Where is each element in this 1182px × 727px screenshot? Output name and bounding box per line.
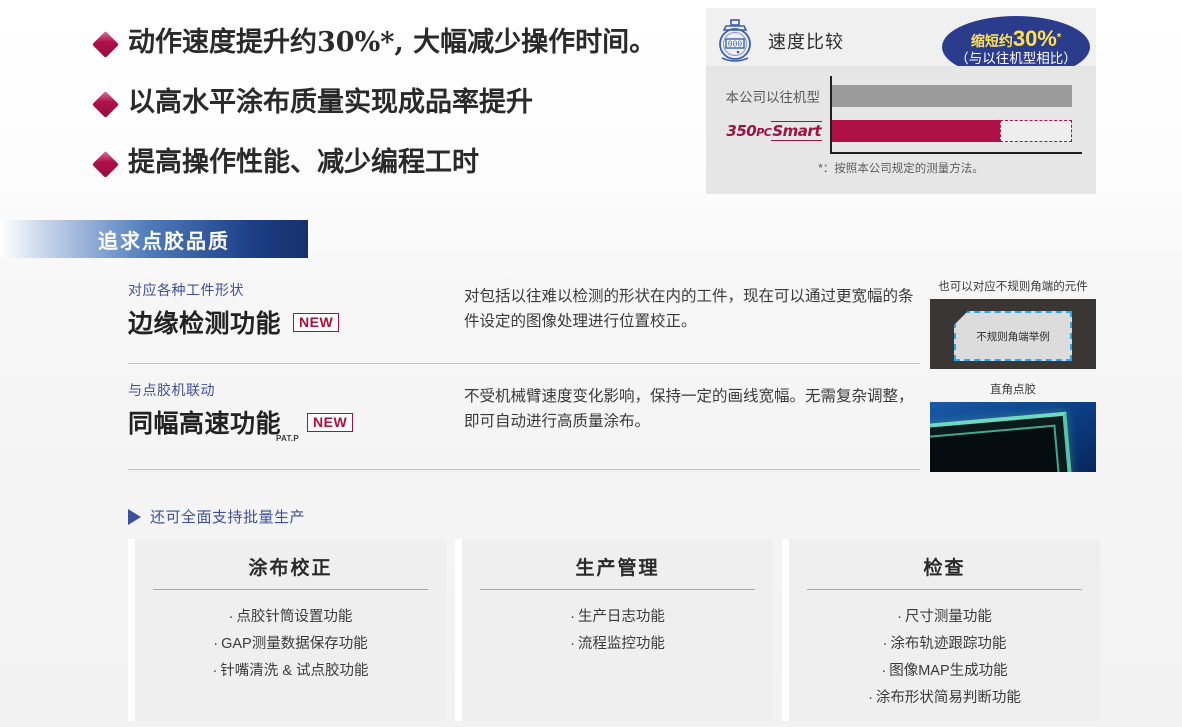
speed-comparison-panel: 000 速度比较 缩短约30%* （与以往机型相比） 本公司以往机型 xyxy=(706,8,1096,194)
chart-bar-track xyxy=(832,120,1072,142)
irregular-corner-shape: 不规则角端举例 xyxy=(954,311,1072,361)
chart-bar-row: 本公司以往机型 xyxy=(720,85,1082,107)
patent-pending-label: PAT.P xyxy=(276,434,299,443)
diamond-bullet-icon xyxy=(92,91,119,118)
chart-plot-area: 本公司以往机型 350PCSmart xyxy=(720,76,1082,154)
bullet-dot-icon: · xyxy=(229,609,234,625)
diamond-bullet-icon xyxy=(92,151,119,178)
bullet-dot-icon: · xyxy=(868,690,873,706)
product-logo-350pc-smart: 350PCSmart xyxy=(720,124,826,139)
card-item-label: 针嘴清洗 & 试点胶功能 xyxy=(220,663,368,679)
card-title: 涂布校正 xyxy=(153,553,428,590)
chart-bar-new-model xyxy=(832,120,1000,142)
thumbnail-image-right-angle-dispensing xyxy=(930,402,1096,472)
batch-production-heading: 还可全面支持批量生产 xyxy=(128,506,1182,527)
card-item: ·流程监控功能 xyxy=(480,631,755,658)
card-item-label: 生产日志功能 xyxy=(578,609,665,625)
stopwatch-icon: 000 xyxy=(712,18,758,64)
bullet-dot-icon: · xyxy=(881,663,886,679)
new-badge: NEW xyxy=(307,413,353,432)
bullet-text: 动作速度提升约30%*, 大幅减少操作时间。 xyxy=(128,26,656,60)
features-section: 对应各种工件形状 边缘检测功能 NEW 对包括以往难以检测的形状在内的工件，现在… xyxy=(0,278,1182,498)
batch-production-label: 还可全面支持批量生产 xyxy=(150,506,305,527)
card-inspection: 检查 ·尺寸测量功能 ·涂布轨迹跟踪功能 ·图像MAP生成功能 ·涂布形状简易判… xyxy=(782,539,1100,721)
chart-bar-reduction-ghost xyxy=(1000,120,1072,142)
feature-kicker: 对应各种工件形状 xyxy=(128,280,464,300)
feature-title: 边缘检测功能 xyxy=(128,304,281,340)
chart-x-axis xyxy=(830,152,1082,154)
card-item-list: ·尺寸测量功能 ·涂布轨迹跟踪功能 ·图像MAP生成功能 ·涂布形状简易判断功能 xyxy=(807,590,1082,712)
bullet-dot-icon: · xyxy=(212,663,217,679)
card-item: ·点胶针筒设置功能 xyxy=(153,604,428,631)
speed-panel-title: 速度比较 xyxy=(768,28,844,54)
card-item: ·图像MAP生成功能 xyxy=(807,658,1082,685)
card-production-management: 生产管理 ·生产日志功能 ·流程监控功能 xyxy=(455,539,773,721)
card-item-label: 点胶针筒设置功能 xyxy=(236,609,352,625)
bullet-item: 以高水平涂布质量实现成品率提升 xyxy=(96,86,696,124)
card-title: 生产管理 xyxy=(480,553,755,590)
bullet-item: 动作速度提升约30%*, 大幅减少操作时间。 xyxy=(96,26,696,64)
chart-footnote: *：按照本公司规定的测量方法。 xyxy=(706,160,1096,176)
reduction-badge-prefix: 缩短约 xyxy=(971,33,1013,49)
card-item: ·尺寸测量功能 xyxy=(807,604,1082,631)
bullet-dot-icon: · xyxy=(213,636,218,652)
thumbnail-block-irregular-corner: 也可以对应不规则角端的元件 不规则角端举例 xyxy=(930,278,1096,369)
card-item: ·涂布形状简易判断功能 xyxy=(807,685,1082,712)
feature-description: 对包括以往难以检测的形状在内的工件，现在可以通过更宽幅的条件设定的图像处理进行位… xyxy=(464,278,920,334)
feature-heading-block: 与点胶机联动 同幅高速功能 NEW PAT.P xyxy=(128,378,464,440)
reduction-badge-line1: 缩短约30%* xyxy=(971,27,1061,50)
thumbnail-image-irregular-corner: 不规则角端举例 xyxy=(930,299,1096,369)
chart-bar-label: 本公司以往机型 xyxy=(720,86,826,106)
reduction-badge-line2: （与以往机型相比） xyxy=(955,52,1077,66)
feature-title-line: 同幅高速功能 NEW PAT.P xyxy=(128,404,464,440)
bullet-text: 以高水平涂布质量实现成品率提升 xyxy=(128,86,533,120)
card-item-label: 图像MAP生成功能 xyxy=(889,663,1007,679)
card-item: ·针嘴清洗 & 试点胶功能 xyxy=(153,658,428,685)
bullet-dot-icon: · xyxy=(570,609,575,625)
feature-row-constant-width-high-speed: 与点胶机联动 同幅高速功能 NEW PAT.P 不受机械臂速度变化影响，保持一定… xyxy=(128,378,920,470)
feature-thumbnails: 也可以对应不规则角端的元件 不规则角端举例 直角点胶 xyxy=(930,278,1096,484)
section-band: 追求点胶品质 xyxy=(0,220,308,258)
card-item-label: 涂布形状简易判断功能 xyxy=(876,690,1021,706)
card-item: ·GAP测量数据保存功能 xyxy=(153,631,428,658)
chart-bar-previous-model xyxy=(832,85,1072,107)
feature-title-line: 边缘检测功能 NEW xyxy=(128,304,464,340)
feature-title: 同幅高速功能 xyxy=(128,404,281,440)
logo-smart: Smart xyxy=(771,121,822,141)
reduction-badge-value: 30% xyxy=(1013,26,1057,51)
card-coating-correction: 涂布校正 ·点胶针筒设置功能 ·GAP测量数据保存功能 ·针嘴清洗 & 试点胶功… xyxy=(128,539,446,721)
irregular-corner-label: 不规则角端举例 xyxy=(976,329,1050,344)
chart-bar-track xyxy=(832,85,1072,107)
speed-bar-chart: 本公司以往机型 350PCSmart *：按照本公司规定的测量方法。 xyxy=(706,66,1096,194)
bullet-dot-icon: · xyxy=(883,636,888,652)
card-item-label: 尺寸测量功能 xyxy=(905,609,992,625)
feature-description: 不受机械臂速度变化影响，保持一定的画线宽幅。无需复杂调整，即可自动进行高质量涂布… xyxy=(464,378,920,434)
dispensing-panel-graphic xyxy=(930,412,1073,472)
card-item-label: 流程监控功能 xyxy=(578,636,665,652)
card-item: ·生产日志功能 xyxy=(480,604,755,631)
thumbnail-block-right-angle-dispensing: 直角点胶 xyxy=(930,381,1096,472)
diamond-bullet-icon xyxy=(92,31,119,58)
top-highlight-area: 动作速度提升约30%*, 大幅减少操作时间。 以高水平涂布质量实现成品率提升 提… xyxy=(0,0,1182,208)
bullet-dot-icon: · xyxy=(897,609,902,625)
svg-text:000: 000 xyxy=(728,40,743,49)
feature-row-edge-detection: 对应各种工件形状 边缘检测功能 NEW 对包括以往难以检测的形状在内的工件，现在… xyxy=(128,278,920,364)
bullet-dot-icon: · xyxy=(570,636,575,652)
card-title: 检查 xyxy=(807,553,1082,590)
feature-heading-block: 对应各种工件形状 边缘检测功能 NEW xyxy=(128,278,464,340)
bullet-text: 提高操作性能、减少编程工时 xyxy=(128,146,479,180)
logo-number: 350 xyxy=(726,122,756,140)
bullet-item: 提高操作性能、减少编程工时 xyxy=(96,146,696,184)
section-band-label: 追求点胶品质 xyxy=(98,225,230,254)
new-badge: NEW xyxy=(293,313,339,332)
logo-pc: PC xyxy=(756,126,771,139)
bullet-list: 动作速度提升约30%*, 大幅减少操作时间。 以高水平涂布质量实现成品率提升 提… xyxy=(96,26,696,206)
card-item-list: ·点胶针筒设置功能 ·GAP测量数据保存功能 ·针嘴清洗 & 试点胶功能 xyxy=(153,590,428,685)
feature-kicker: 与点胶机联动 xyxy=(128,380,464,400)
card-item-list: ·生产日志功能 ·流程监控功能 xyxy=(480,590,755,658)
card-item: ·涂布轨迹跟踪功能 xyxy=(807,631,1082,658)
thumbnail-caption: 直角点胶 xyxy=(930,381,1096,397)
reduction-badge-star: * xyxy=(1057,32,1061,44)
thumbnail-caption: 也可以对应不规则角端的元件 xyxy=(930,278,1096,294)
card-item-label: GAP测量数据保存功能 xyxy=(221,636,368,652)
chart-bar-row: 350PCSmart xyxy=(720,120,1082,142)
card-item-label: 涂布轨迹跟踪功能 xyxy=(890,636,1006,652)
triangle-arrow-icon xyxy=(128,509,141,525)
function-cards: 涂布校正 ·点胶针筒设置功能 ·GAP测量数据保存功能 ·针嘴清洗 & 试点胶功… xyxy=(128,539,1182,721)
dispensing-panel-inner xyxy=(930,425,1062,472)
